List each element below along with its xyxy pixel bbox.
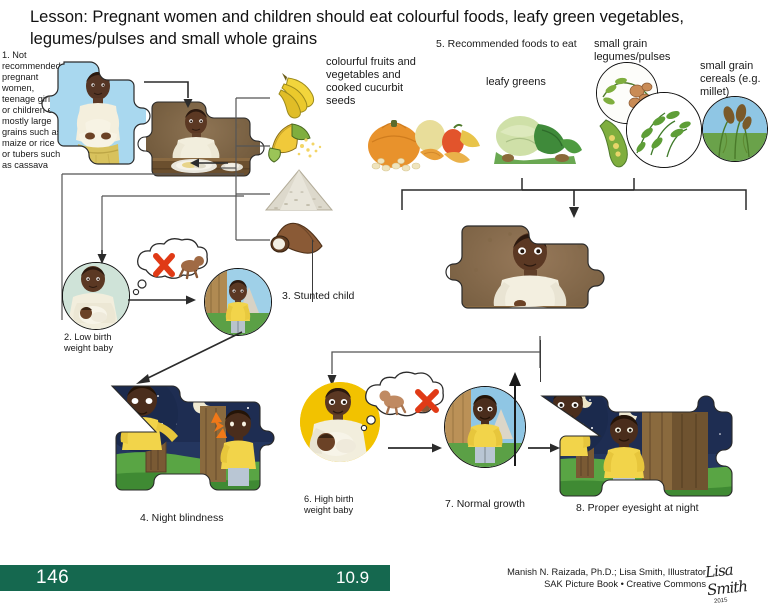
label-recommended-foods: 5. Recommended foods to eat <box>436 38 596 51</box>
bananas-icon <box>270 72 328 120</box>
figure-proper-eyesight-night: 8. Proper eyesight at night <box>520 368 736 518</box>
green-pods-icon <box>596 112 642 172</box>
figure-pregnant-woman <box>50 58 146 176</box>
label-stunted-child: 3. Stunted child <box>282 290 362 303</box>
figure-night-blindness: 4. Night blindness <box>88 362 284 510</box>
label-small-grain-cereals: small grain cereals (e.g. millet) <box>700 60 772 99</box>
leafy-greens-icon <box>486 110 588 172</box>
arrow-woman-to-meal <box>142 78 208 112</box>
arrow-lbw-to-stunted <box>128 292 200 308</box>
label-night-blindness: 4. Night blindness <box>140 512 260 525</box>
small-grain-cereals-icon <box>702 96 768 162</box>
arrow-foods-to-meal <box>186 154 230 172</box>
colourful-vegetables-icon <box>358 108 488 174</box>
credits: Manish N. Raizada, Ph.D.; Lisa Smith, Il… <box>466 566 706 590</box>
label-colourful-foods: colourful fruits and vegetables and cook… <box>326 56 430 108</box>
section-number: 10.9 <box>336 568 369 588</box>
page-number: 146 <box>36 567 69 589</box>
bracket-recommended-foods <box>398 176 750 220</box>
label-legumes-pulses: small grain legumes/pulses <box>594 38 686 64</box>
label-high-birth-weight: 6. High birth weight baby <box>304 494 374 516</box>
label-proper-eyesight: 8. Proper eyesight at night <box>576 502 736 515</box>
illustrator-signature: Lisa Smith 2015 <box>706 560 770 594</box>
cassava-icon <box>266 214 330 260</box>
credit-line-2: SAK Picture Book • Creative Commons <box>466 578 706 590</box>
thought-bubble-no-stunting <box>358 378 458 432</box>
maize-icon <box>266 120 330 166</box>
label-leafy-greens: leafy greens <box>486 76 574 89</box>
credit-line-1: Manish N. Raizada, Ph.D.; Lisa Smith, Il… <box>466 566 706 578</box>
figure-eating-recommended-foods <box>450 216 628 338</box>
arrow-hbw-to-normal-growth <box>388 440 446 456</box>
